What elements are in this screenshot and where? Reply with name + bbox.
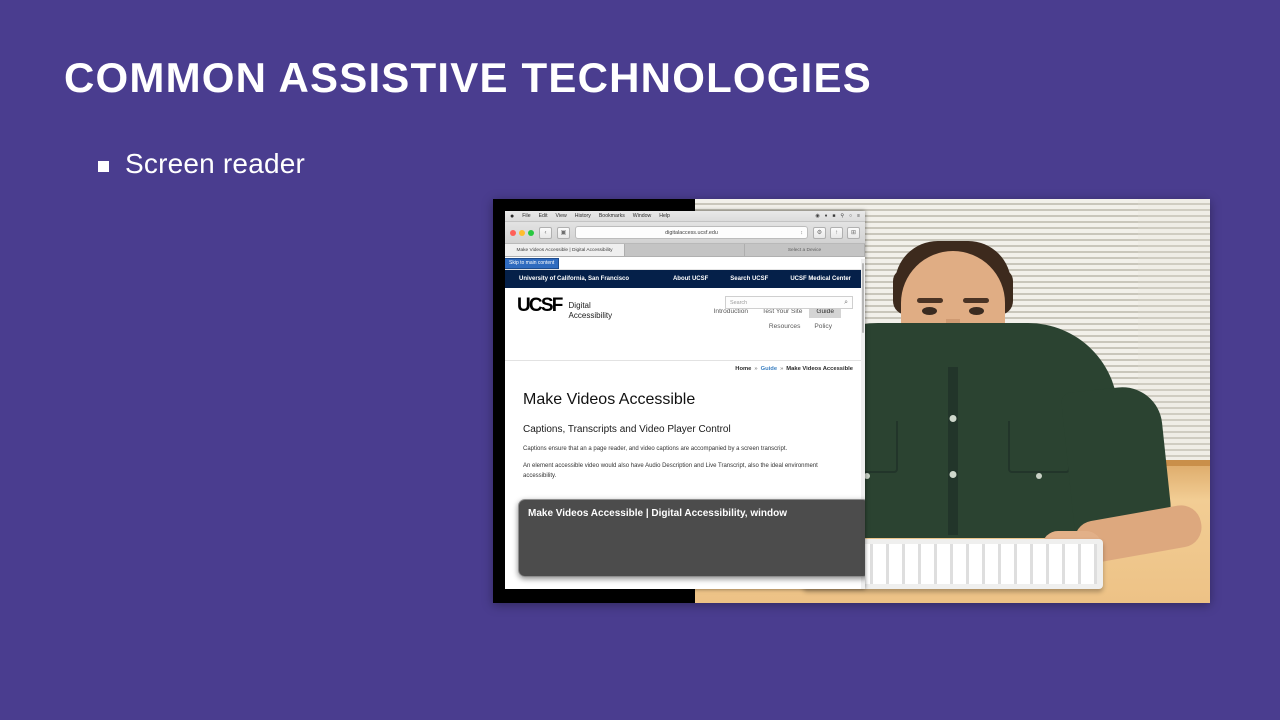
square-bullet-icon [98,161,109,172]
wifi-icon[interactable]: ◉ [815,213,819,219]
search-ucsf-link[interactable]: Search UCSF [730,276,768,282]
sidebar-button[interactable]: ▣ [557,227,570,239]
shirt-placket [948,367,958,535]
content-heading: Make Videos Accessible [523,391,847,409]
user-icon[interactable]: ○ [849,213,852,219]
tab-select-a-device[interactable]: Select a Device [745,244,865,256]
person-brow-right [963,298,989,303]
person-brow-left [917,298,943,303]
safari-toolbar[interactable]: ‹ ▣ digitalaccess.ucsf.edu ↕ ⚙ ↑ ⊞ [505,222,865,244]
zoom-icon[interactable] [528,230,534,236]
shirt-pocket-right [1008,421,1070,473]
toolbar-right-buttons[interactable]: ⚙ ↑ ⊞ [813,227,860,239]
breadcrumb-home[interactable]: Home [735,366,751,372]
site-name-line2: Accessibility [569,311,613,320]
menu-bookmarks[interactable]: Bookmarks [599,213,625,219]
bullet-label: Screen reader [125,148,305,180]
bluetooth-icon[interactable]: ♦ [825,213,828,219]
ucsf-logo[interactable]: UCSF [517,298,562,314]
menu-edit[interactable]: Edit [539,213,548,219]
shirt-button [949,415,956,422]
tab-make-videos-accessible[interactable]: Make Videos Accessible | Digital Accessi… [505,244,625,256]
battery-icon[interactable]: ■ [832,213,835,219]
show-tabs-icon[interactable]: ⊞ [847,227,860,239]
minimize-icon[interactable] [519,230,525,236]
breadcrumb-guide[interactable]: Guide [761,366,777,372]
back-button[interactable]: ‹ [539,227,552,239]
menu-view[interactable]: View [556,213,567,219]
video-player[interactable]: ● File Edit View History Bookmarks Windo… [493,199,1210,603]
breadcrumb-current: Make Videos Accessible [786,366,853,372]
content-paragraph-2: An element accessible video would also h… [523,462,847,481]
breadcrumb-separator: » [754,366,757,372]
ucsf-global-nav[interactable]: University of California, San Francisco … [505,270,865,288]
page-content: Make Videos Accessible Captions, Transcr… [505,377,865,481]
page-title: COMMON ASSISTIVE TECHNOLOGIES [64,54,872,102]
pocket-snap-right [1036,473,1042,479]
address-bar[interactable]: digitalaccess.ucsf.edu ↕ [575,226,808,239]
menu-window[interactable]: Window [633,213,651,219]
site-header: Search ⌕ UCSF Digital Accessibility Intr… [505,288,865,360]
ucsf-brand-link[interactable]: University of California, San Francisco [519,276,629,282]
video-content: ● File Edit View History Bookmarks Windo… [493,199,1210,603]
mac-menu-bar[interactable]: ● File Edit View History Bookmarks Windo… [505,211,865,222]
skip-to-main-content-link[interactable]: Skip to main content [505,259,558,268]
nav-resources[interactable]: Resources [762,320,808,333]
site-name: Digital Accessibility [569,298,613,321]
person-eye-left [922,307,937,315]
site-search-input[interactable]: Search ⌕ [725,296,853,309]
site-main-nav-row2[interactable]: Resources Policy [517,320,853,333]
skip-link-row: Skip to main content [505,257,865,270]
search-icon[interactable]: ⚲ [840,213,844,219]
close-icon[interactable] [510,230,516,236]
nav-policy[interactable]: Policy [807,320,839,333]
menu-help[interactable]: Help [659,213,670,219]
ucsf-medical-center-link[interactable]: UCSF Medical Center [790,276,851,282]
content-subheading: Captions, Transcripts and Video Player C… [523,423,847,437]
search-placeholder: Search [730,300,747,306]
menu-icon[interactable]: ≡ [857,213,860,219]
breadcrumb-separator: » [780,366,783,372]
safari-window[interactable]: ● File Edit View History Bookmarks Windo… [505,211,865,589]
menubar-status-items[interactable]: ◉ ♦ ■ ⚲ ○ ≡ [815,213,860,219]
shirt-button [949,471,956,478]
content-paragraph-1: Captions ensure that an a page reader, a… [523,445,847,455]
site-name-line1: Digital [569,301,591,310]
reload-icon[interactable]: ↕ [800,230,803,236]
voiceover-caption-panel: Make Videos Accessible | Digital Accessi… [518,499,865,577]
apple-logo-icon[interactable]: ● [510,213,514,220]
menu-file[interactable]: File [522,213,530,219]
window-controls[interactable] [510,230,534,236]
settings-icon[interactable]: ⚙ [813,227,826,239]
tab-empty[interactable] [625,244,745,256]
tab-bar[interactable]: Make Videos Accessible | Digital Accessi… [505,244,865,257]
person-eye-right [969,307,984,315]
share-icon[interactable]: ↑ [830,227,843,239]
breadcrumb[interactable]: Home » Guide » Make Videos Accessible [505,360,865,377]
list-item: Screen reader [98,148,305,180]
magnifier-icon[interactable]: ⌕ [844,299,848,307]
url-text: digitalaccess.ucsf.edu [665,230,718,236]
about-ucsf-link[interactable]: About UCSF [673,276,708,282]
menu-history[interactable]: History [575,213,591,219]
